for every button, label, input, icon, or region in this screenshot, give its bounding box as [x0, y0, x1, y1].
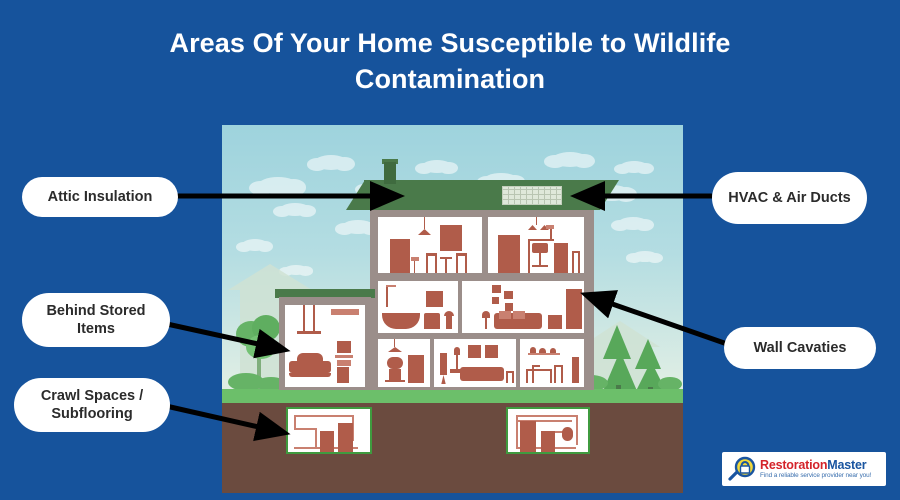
background-house-roof [228, 264, 312, 290]
callout-hvac-air-ducts[interactable]: HVAC & Air Ducts [712, 172, 867, 224]
callout-crawl-spaces[interactable]: Crawl Spaces / Subflooring [14, 378, 170, 432]
room-entry [378, 339, 430, 387]
magnifier-lock-icon [727, 456, 757, 482]
cloud-icon [242, 239, 268, 251]
cloud-icon [314, 155, 348, 170]
room-office [488, 217, 584, 273]
room-living-lower [434, 339, 516, 387]
room-garage [285, 305, 365, 387]
logo-tagline: Find a reliable service provider near yo… [760, 473, 871, 479]
crawlspace-left [286, 407, 372, 454]
callout-attic-insulation[interactable]: Attic Insulation [22, 177, 178, 217]
cloud-icon [422, 160, 452, 173]
roof [364, 180, 600, 210]
room-kitchen [520, 339, 584, 387]
cloud-icon [620, 161, 648, 173]
roof-eave-left [346, 180, 365, 210]
logo-name: RestorationMaster [760, 459, 871, 472]
tree-foliage-icon [246, 335, 276, 359]
house-cutaway-illustration [222, 125, 683, 493]
cloud-icon [618, 217, 648, 230]
page-title: Areas Of Your Home Susceptible to Wildli… [110, 26, 790, 97]
grass-ground [222, 389, 683, 403]
chimney-icon [384, 162, 396, 184]
cloud-icon [552, 152, 588, 167]
room-dining [378, 217, 482, 273]
crawlspace-right [506, 407, 590, 454]
room-living-upper [462, 281, 584, 333]
restorationmaster-logo[interactable]: RestorationMaster Find a reliable servic… [722, 452, 886, 486]
callout-wall-cavaties[interactable]: Wall Cavaties [724, 327, 876, 369]
room-bathroom [378, 281, 458, 333]
logo-name-part1: Restoration [760, 458, 827, 472]
cloud-icon [280, 203, 310, 216]
logo-name-part2: Master [827, 458, 866, 472]
solar-panel-icon [502, 186, 562, 205]
cloud-icon [632, 251, 658, 262]
cloud-icon [258, 177, 298, 194]
logo-text: RestorationMaster Find a reliable servic… [760, 459, 871, 480]
callout-behind-stored-items[interactable]: Behind Stored Items [22, 293, 170, 347]
roof-eave-right [600, 180, 619, 210]
infographic-root: Areas Of Your Home Susceptible to Wildli… [0, 0, 900, 500]
